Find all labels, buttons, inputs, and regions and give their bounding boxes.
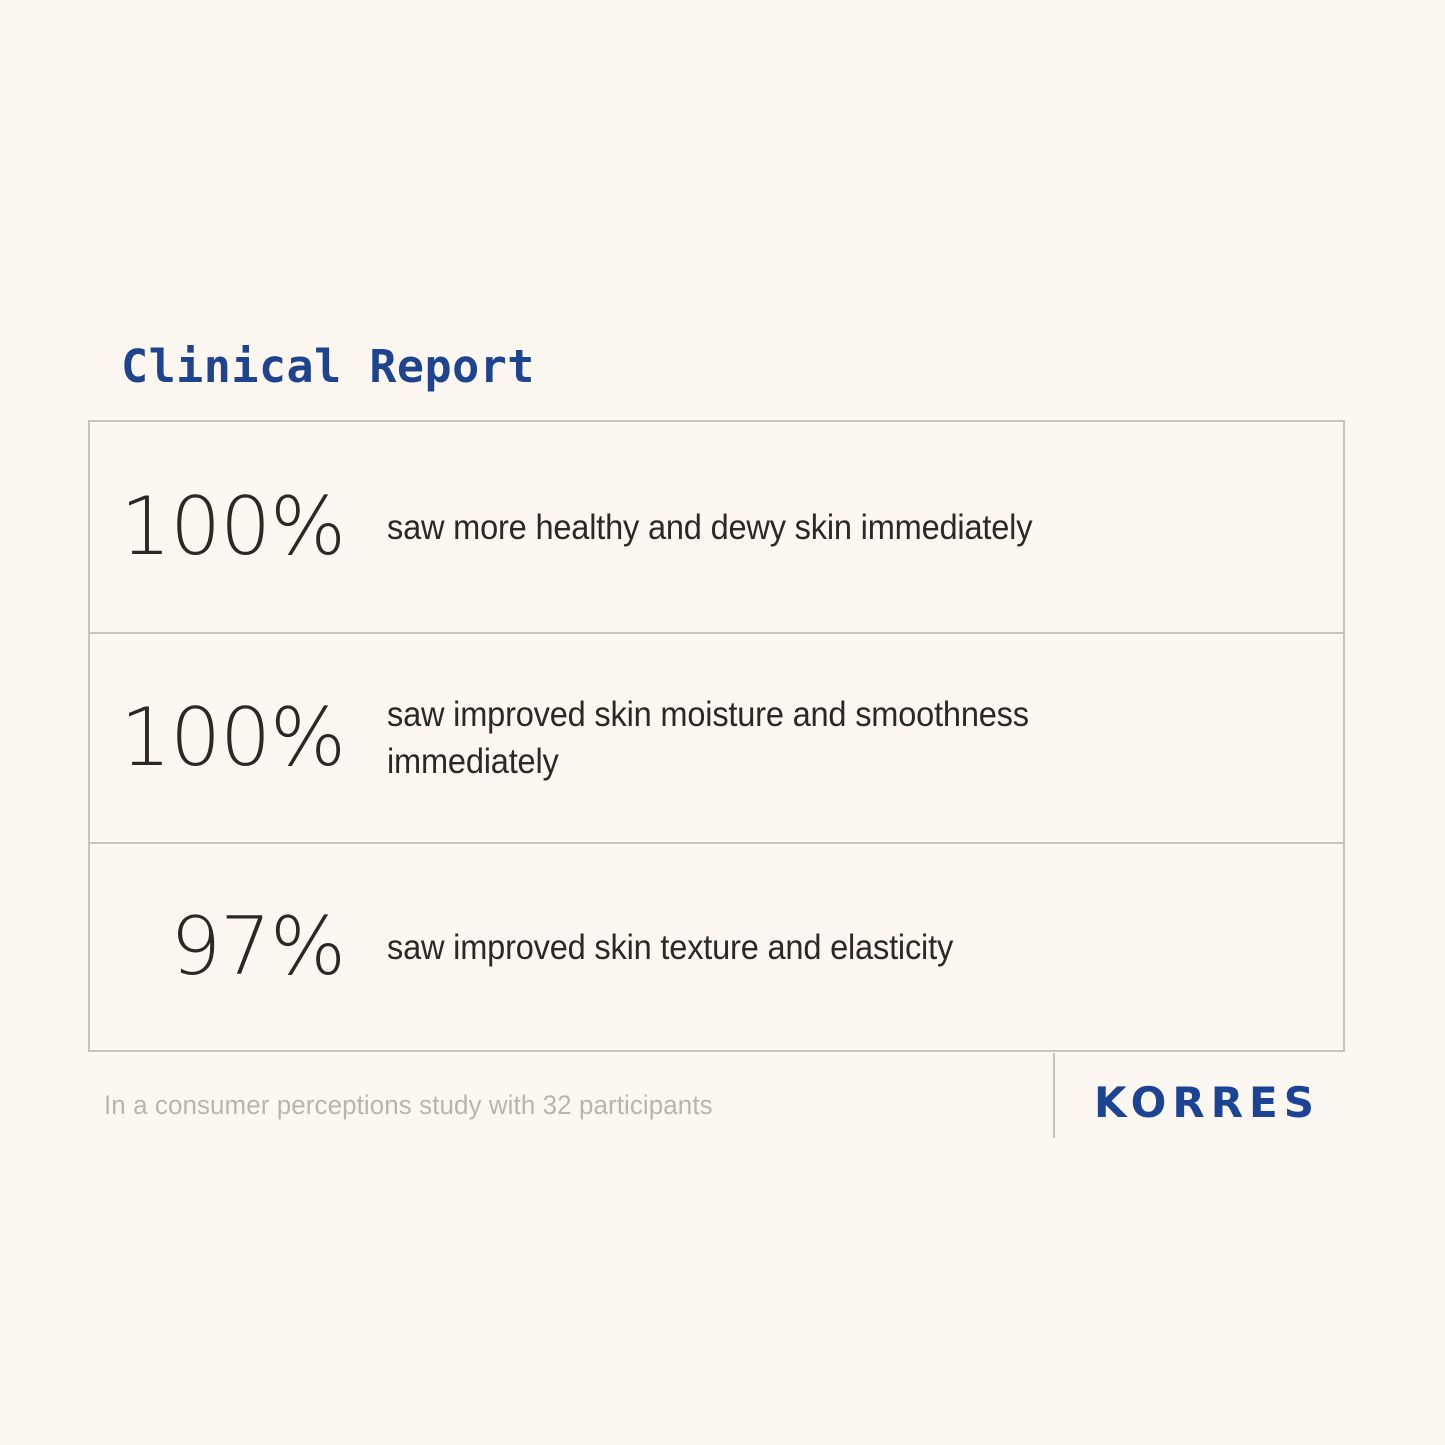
stat-value: 100% [90,696,387,780]
table-row: 100% saw improved skin moisture and smoo… [90,634,1343,844]
page-title: Clinical Report [121,341,535,393]
brand-logo: KORRES [1094,1078,1320,1128]
table-row: 100% saw more healthy and dewy skin imme… [90,422,1343,634]
stats-table: 100% saw more healthy and dewy skin imme… [88,420,1345,1052]
footer-divider [1053,1053,1055,1138]
stat-value: 97% [90,905,387,989]
table-row: 97% saw improved skin texture and elasti… [90,844,1343,1050]
stat-value: 100% [90,485,387,569]
clinical-report-card: Clinical Report 100% saw more healthy an… [0,0,1445,1445]
study-footnote: In a consumer perceptions study with 32 … [104,1085,713,1125]
stat-description: saw improved skin texture and elasticity [387,924,1276,971]
stat-description: saw more healthy and dewy skin immediate… [387,504,1276,551]
stat-description: saw improved skin moisture and smoothnes… [387,691,1276,785]
